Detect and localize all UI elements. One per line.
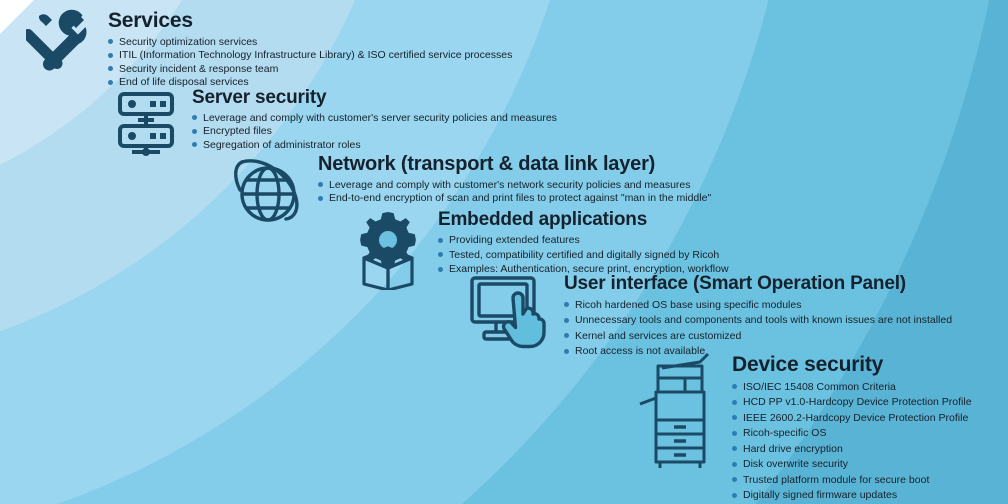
bullet-list: Leverage and comply with customer's netw…: [318, 178, 711, 205]
wrench-screwdriver-icon: [26, 8, 96, 78]
monitor-touch-hand-icon: [466, 272, 552, 354]
bullet-text: Hard drive encryption: [732, 444, 843, 455]
bullet-item: Digitally signed firmware updates: [732, 488, 972, 504]
bullet-dot-icon: [318, 196, 323, 201]
section-server-security: Server security Leverage and comply with…: [110, 86, 557, 158]
bullet-item: Hard drive encryption: [732, 441, 972, 457]
bullet-list: Providing extended features Tested, comp…: [438, 233, 729, 277]
bullet-dot-icon: [564, 318, 569, 323]
bullet-dot-icon: [192, 129, 197, 134]
section-body: Network (transport & data link layer) Le…: [318, 154, 711, 205]
bullet-text: HCD PP v1.0-Hardcopy Device Protection P…: [732, 397, 972, 408]
bullet-text: Leverage and comply with customer's serv…: [192, 113, 557, 124]
section-title: User interface (Smart Operation Panel): [564, 274, 952, 293]
bullet-text: Trusted platform module for secure boot: [732, 475, 929, 486]
bullet-text: Segregation of administrator roles: [192, 140, 361, 151]
bullet-item: IEEE 2600.2-Hardcopy Device Protection P…: [732, 410, 972, 426]
section-body: Services Security optimization services …: [108, 10, 512, 89]
bullet-text: Security incident & response team: [108, 64, 278, 75]
section-user-interface: User interface (Smart Operation Panel) R…: [466, 272, 952, 359]
bullet-dot-icon: [564, 349, 569, 354]
bullet-text: ITIL (Information Technology Infrastruct…: [108, 50, 512, 61]
bullet-text: Ricoh-specific OS: [732, 428, 826, 439]
bullet-item: Encrypted files: [192, 125, 557, 139]
bullet-item: Ricoh-specific OS: [732, 426, 972, 442]
bullet-dot-icon: [732, 493, 737, 498]
bullet-text: Kernel and services are customized: [564, 331, 741, 342]
bullet-item: Segregation of administrator roles: [192, 138, 557, 152]
bullet-item: Providing extended features: [438, 233, 729, 248]
bullet-item: Leverage and comply with customer's serv…: [192, 111, 557, 125]
section-body: User interface (Smart Operation Panel) R…: [564, 274, 952, 359]
bullet-dot-icon: [108, 80, 113, 85]
bullet-item: End-to-end encryption of scan and print …: [318, 192, 711, 206]
bullet-item: ISO/IEC 15408 Common Criteria: [732, 379, 972, 395]
section-services: Services Security optimization services …: [26, 8, 512, 89]
bullet-list: Ricoh hardened OS base using specific mo…: [564, 297, 952, 359]
bullet-dot-icon: [732, 400, 737, 405]
globe-network-icon: [228, 152, 306, 230]
infographic-canvas: Services Security optimization services …: [0, 0, 1008, 504]
section-device-security: Device security ISO/IEC 15408 Common Cri…: [638, 352, 972, 503]
gear-in-box-icon: [348, 208, 428, 290]
bullet-dot-icon: [732, 431, 737, 436]
bullet-text: Disk overwrite security: [732, 459, 848, 470]
bullet-text: Digitally signed firmware updates: [732, 490, 897, 501]
bullet-item: Ricoh hardened OS base using specific mo…: [564, 297, 952, 313]
bullet-item: ITIL (Information Technology Infrastruct…: [108, 49, 512, 63]
bullet-list: Leverage and comply with customer's serv…: [192, 111, 557, 152]
section-title: Network (transport & data link layer): [318, 154, 711, 174]
bullet-item: Leverage and comply with customer's netw…: [318, 178, 711, 192]
bullet-item: Unnecessary tools and components and too…: [564, 313, 952, 329]
bullet-text: Tested, compatibility certified and digi…: [438, 250, 719, 261]
bullet-dot-icon: [108, 53, 113, 58]
bullet-list: ISO/IEC 15408 Common Criteria HCD PP v1.…: [732, 379, 972, 503]
bullet-text: Ricoh hardened OS base using specific mo…: [564, 300, 801, 311]
bullet-item: Security optimization services: [108, 35, 512, 49]
bullet-dot-icon: [732, 462, 737, 467]
section-title: Embedded applications: [438, 210, 729, 229]
bullet-text: Providing extended features: [438, 235, 580, 246]
bullet-text: Unnecessary tools and components and too…: [564, 315, 952, 326]
bullet-text: ISO/IEC 15408 Common Criteria: [732, 382, 896, 393]
bullet-list: Security optimization services ITIL (Inf…: [108, 35, 512, 89]
bullet-item: Disk overwrite security: [732, 457, 972, 473]
bullet-text: End-to-end encryption of scan and print …: [318, 193, 711, 204]
bullet-text: Security optimization services: [108, 37, 257, 48]
section-body: Device security ISO/IEC 15408 Common Cri…: [732, 354, 972, 503]
bullet-item: Trusted platform module for secure boot: [732, 472, 972, 488]
bullet-text: IEEE 2600.2-Hardcopy Device Protection P…: [732, 413, 968, 424]
bullet-item: Security incident & response team: [108, 62, 512, 76]
server-rack-icon: [110, 86, 182, 158]
bullet-text: Leverage and comply with customer's netw…: [318, 180, 691, 191]
section-title: Server security: [192, 88, 557, 107]
bullet-item: Kernel and services are customized: [564, 328, 952, 344]
bullet-dot-icon: [438, 267, 443, 272]
section-body: Server security Leverage and comply with…: [192, 88, 557, 152]
bullet-text: Encrypted files: [192, 126, 272, 137]
bullet-dot-icon: [438, 238, 443, 243]
multifunction-printer-icon: [638, 352, 718, 472]
section-body: Embedded applications Providing extended…: [438, 210, 729, 277]
bullet-item: HCD PP v1.0-Hardcopy Device Protection P…: [732, 395, 972, 411]
section-title: Services: [108, 10, 512, 31]
section-title: Device security: [732, 354, 972, 375]
bullet-item: Tested, compatibility certified and digi…: [438, 248, 729, 263]
